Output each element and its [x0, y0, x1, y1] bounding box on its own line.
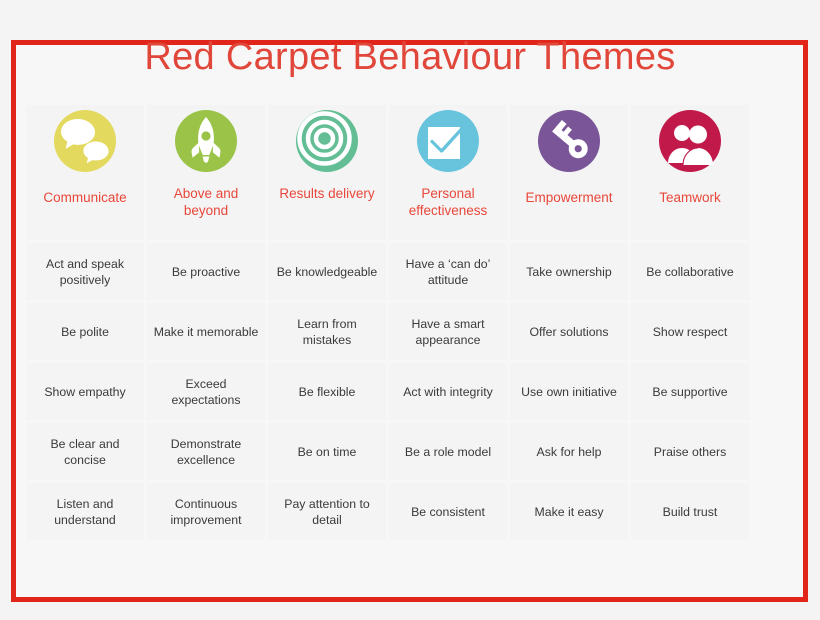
cell-text: Be polite [61, 324, 109, 340]
cell-text: Be collaborative [646, 264, 734, 280]
table-cell[interactable]: Take ownership [510, 243, 628, 300]
column-header-empowerment[interactable]: Empowerment [510, 105, 628, 240]
cell-text: Be proactive [172, 264, 240, 280]
cell-text: Praise others [654, 444, 726, 460]
table-cell[interactable]: Have a ‘can do’ attitude [389, 243, 507, 300]
table-cell[interactable]: Exceed expectations [147, 363, 265, 420]
cell-text: Have a smart appearance [395, 316, 501, 348]
table-cell[interactable]: Be supportive [631, 363, 749, 420]
cell-text: Be clear and concise [32, 436, 138, 468]
poster-page: Red Carpet Behaviour Themes Communicate [0, 0, 820, 620]
cell-text: Offer solutions [529, 324, 608, 340]
page-title: Red Carpet Behaviour Themes [0, 36, 820, 79]
column-header-label: Results delivery [275, 185, 378, 202]
cell-text: Continuous improvement [153, 496, 259, 528]
checkbox-tick-icon [416, 109, 480, 173]
table-cell[interactable]: Continuous improvement [147, 483, 265, 540]
table-cell[interactable]: Show respect [631, 303, 749, 360]
table-cell[interactable]: Be on time [268, 423, 386, 480]
cell-text: Build trust [663, 504, 718, 520]
column-header-label: Personal effectiveness [389, 185, 507, 219]
cell-text: Be consistent [411, 504, 485, 520]
table-cell[interactable]: Be a role model [389, 423, 507, 480]
cell-text: Learn from mistakes [274, 316, 380, 348]
column-header-personal-effectiveness[interactable]: Personal effectiveness [389, 105, 507, 240]
cell-text: Act and speak positively [32, 256, 138, 288]
cell-text: Pay attention to detail [274, 496, 380, 528]
cell-text: Be flexible [299, 384, 356, 400]
cell-text: Demonstrate excellence [153, 436, 259, 468]
cell-text: Ask for help [537, 444, 602, 460]
column-header-above-and-beyond[interactable]: Above and beyond [147, 105, 265, 240]
behaviour-themes-grid: Communicate Above and beyond [26, 105, 749, 540]
table-cell[interactable]: Learn from mistakes [268, 303, 386, 360]
table-cell[interactable]: Show empathy [26, 363, 144, 420]
cell-text: Be on time [298, 444, 357, 460]
cell-text: Make it memorable [154, 324, 259, 340]
table-cell[interactable]: Act with integrity [389, 363, 507, 420]
cell-text: Act with integrity [403, 384, 493, 400]
target-icon [295, 109, 359, 173]
table-cell[interactable]: Act and speak positively [26, 243, 144, 300]
cell-text: Make it easy [534, 504, 603, 520]
cell-text: Be a role model [405, 444, 491, 460]
speech-bubbles-icon [53, 109, 117, 173]
table-cell[interactable]: Be polite [26, 303, 144, 360]
table-cell[interactable]: Make it easy [510, 483, 628, 540]
table-cell[interactable]: Be knowledgeable [268, 243, 386, 300]
column-header-label: Communicate [39, 189, 130, 206]
cell-text: Take ownership [526, 264, 611, 280]
table-cell[interactable]: Listen and understand [26, 483, 144, 540]
cell-text: Be knowledgeable [277, 264, 378, 280]
key-icon [537, 109, 601, 173]
table-cell[interactable]: Praise others [631, 423, 749, 480]
column-header-results-delivery[interactable]: Results delivery [268, 105, 386, 240]
cell-text: Have a ‘can do’ attitude [395, 256, 501, 288]
column-header-label: Above and beyond [147, 185, 265, 219]
column-header-communicate[interactable]: Communicate [26, 105, 144, 240]
cell-text: Be supportive [652, 384, 727, 400]
table-cell[interactable]: Ask for help [510, 423, 628, 480]
cell-text: Listen and understand [32, 496, 138, 528]
cell-text: Use own initiative [521, 384, 617, 400]
cell-text: Exceed expectations [153, 376, 259, 408]
table-cell[interactable]: Offer solutions [510, 303, 628, 360]
two-people-icon [658, 109, 722, 173]
table-cell[interactable]: Be flexible [268, 363, 386, 420]
table-cell[interactable]: Build trust [631, 483, 749, 540]
table-cell[interactable]: Make it memorable [147, 303, 265, 360]
table-cell[interactable]: Use own initiative [510, 363, 628, 420]
table-cell[interactable]: Have a smart appearance [389, 303, 507, 360]
table-cell[interactable]: Be proactive [147, 243, 265, 300]
cell-text: Show empathy [44, 384, 125, 400]
cell-text: Show respect [653, 324, 728, 340]
table-cell[interactable]: Demonstrate excellence [147, 423, 265, 480]
column-header-label: Teamwork [655, 189, 725, 206]
table-cell[interactable]: Be clear and concise [26, 423, 144, 480]
rocket-icon [174, 109, 238, 173]
table-cell[interactable]: Be consistent [389, 483, 507, 540]
table-cell[interactable]: Pay attention to detail [268, 483, 386, 540]
table-cell[interactable]: Be collaborative [631, 243, 749, 300]
column-header-label: Empowerment [521, 189, 616, 206]
column-header-teamwork[interactable]: Teamwork [631, 105, 749, 240]
